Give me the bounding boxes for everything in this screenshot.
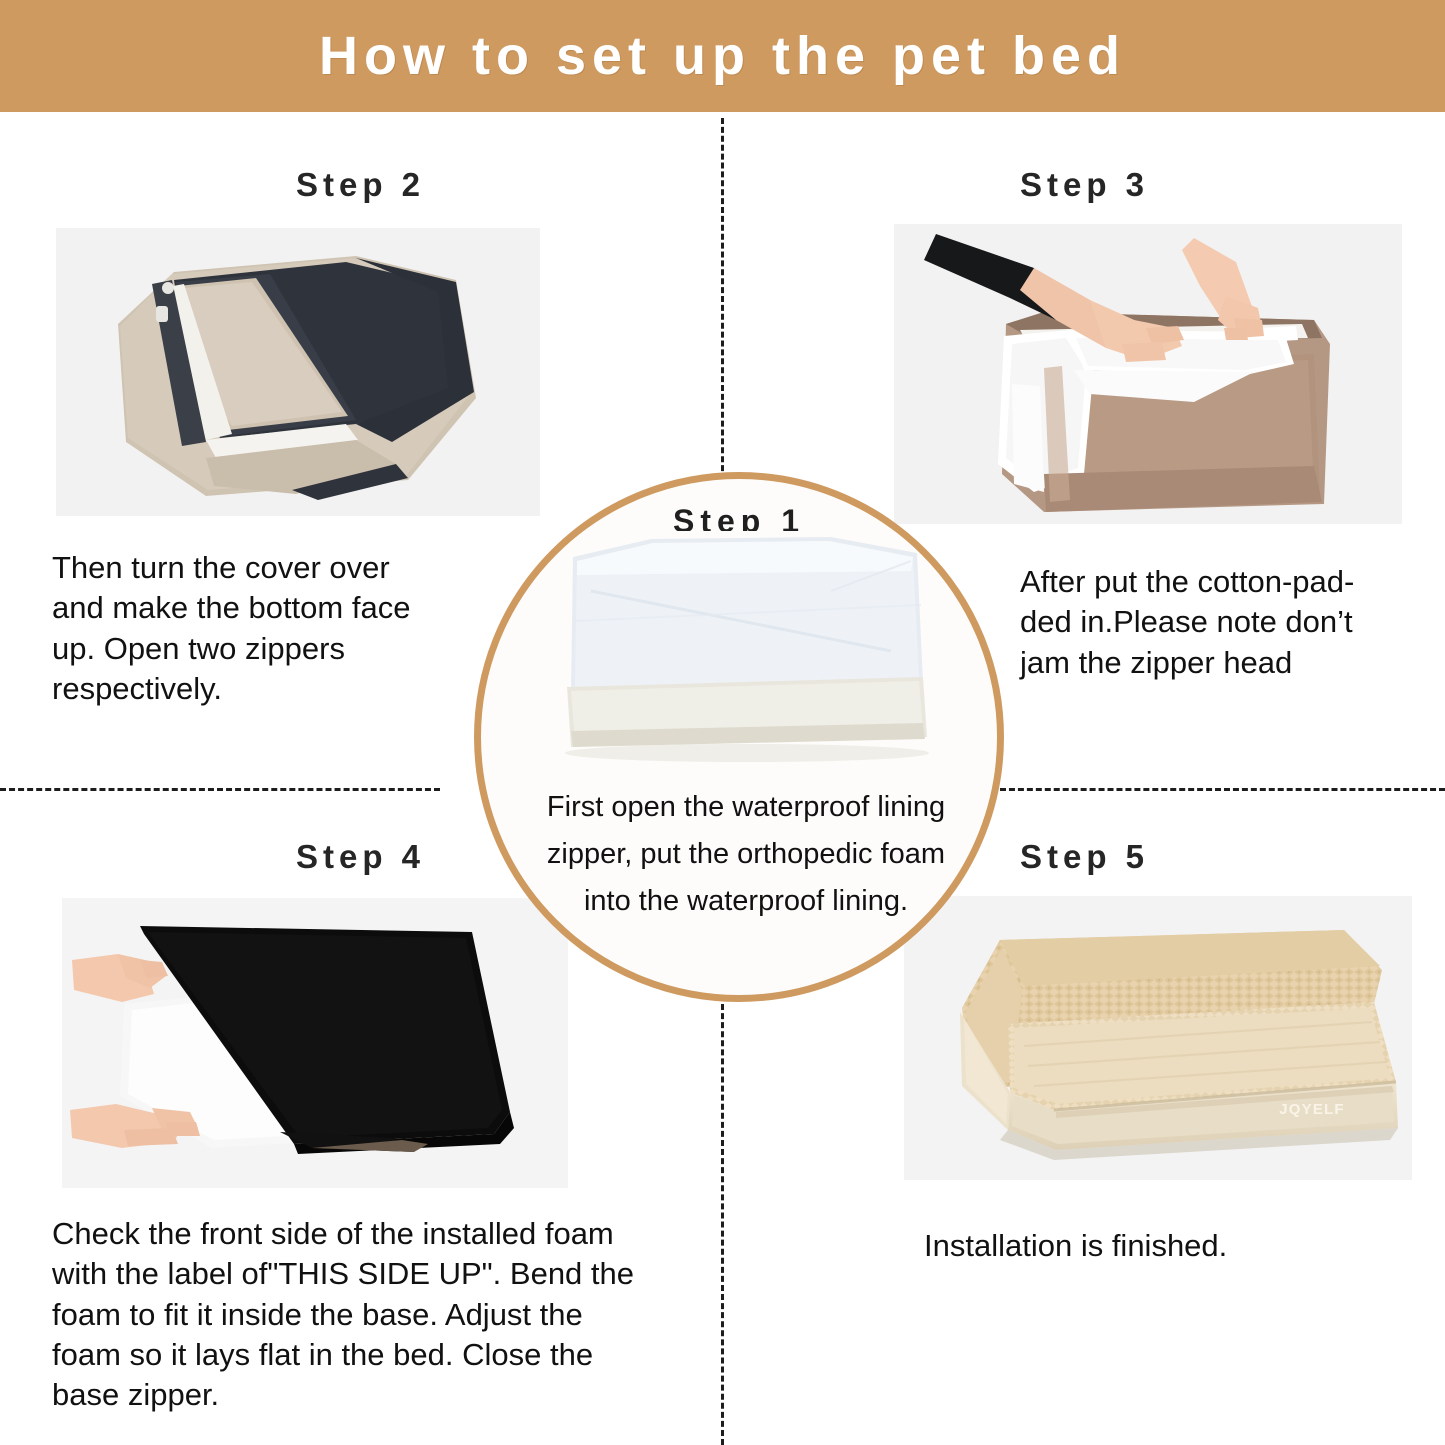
step-text-step-3: After put the cotton-pad- ded in.Please … (1020, 562, 1420, 683)
step-text-step-1: First open the waterproof lining zipper,… (505, 784, 987, 925)
header-banner: How to set up the pet bed (0, 0, 1445, 112)
step-photo-step-5: JQYELF (904, 896, 1412, 1180)
step-photo-step-3 (894, 224, 1402, 524)
page-title: How to set up the pet bed (319, 25, 1126, 87)
divider-horizontal-right (1000, 788, 1445, 791)
step-1-highlight-circle: Step 1 First open the waterproof lining … (474, 472, 1004, 1002)
step-text-step-4: Check the front side of the installed fo… (52, 1214, 697, 1415)
step-photo-step-1 (531, 531, 951, 766)
finished-pet-bed-illustration: JQYELF (904, 896, 1412, 1180)
step-photo-step-4 (62, 898, 568, 1188)
step-text-step-2: Then turn the cover over and make the bo… (52, 548, 472, 709)
brand-label: JQYELF (1279, 1101, 1345, 1118)
cover-with-open-zippers-illustration (56, 228, 540, 516)
step-text-step-5: Installation is finished. (924, 1226, 1354, 1266)
step-photo-step-2 (56, 228, 540, 516)
step-label-step-2: Step 2 (0, 166, 721, 204)
step-label-step-3: Step 3 (724, 166, 1445, 204)
divider-horizontal-left (0, 788, 440, 791)
hands-inserting-padding-illustration (894, 224, 1402, 524)
foam-in-waterproof-lining-illustration (531, 531, 951, 766)
black-cover-over-foam-illustration (62, 898, 568, 1188)
